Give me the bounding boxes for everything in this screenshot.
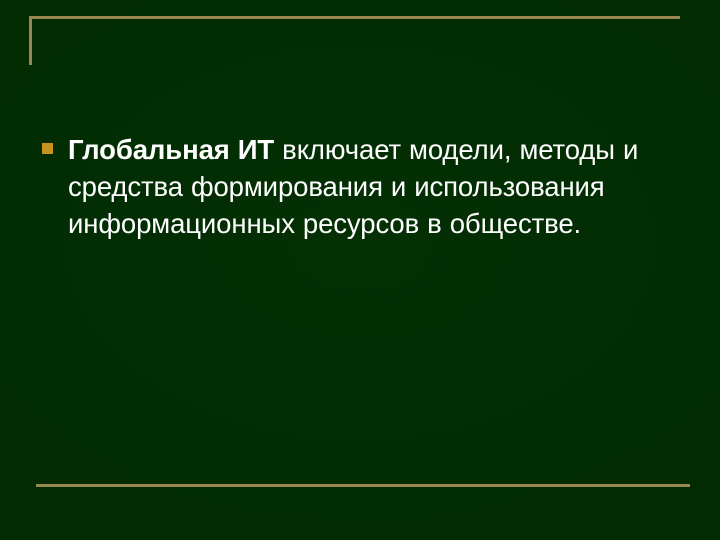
bullet-item-text: Глобальная ИТ включает модели, методы и … bbox=[68, 131, 672, 242]
presentation-slide: Глобальная ИТ включает модели, методы и … bbox=[0, 0, 720, 540]
square-bullet-icon bbox=[42, 143, 53, 154]
bullet-item-lead-term: Глобальная ИТ bbox=[68, 134, 274, 165]
slide-content-area: Глобальная ИТ включает модели, методы и … bbox=[0, 0, 720, 540]
bullet-list-item: Глобальная ИТ включает модели, методы и … bbox=[42, 131, 672, 242]
